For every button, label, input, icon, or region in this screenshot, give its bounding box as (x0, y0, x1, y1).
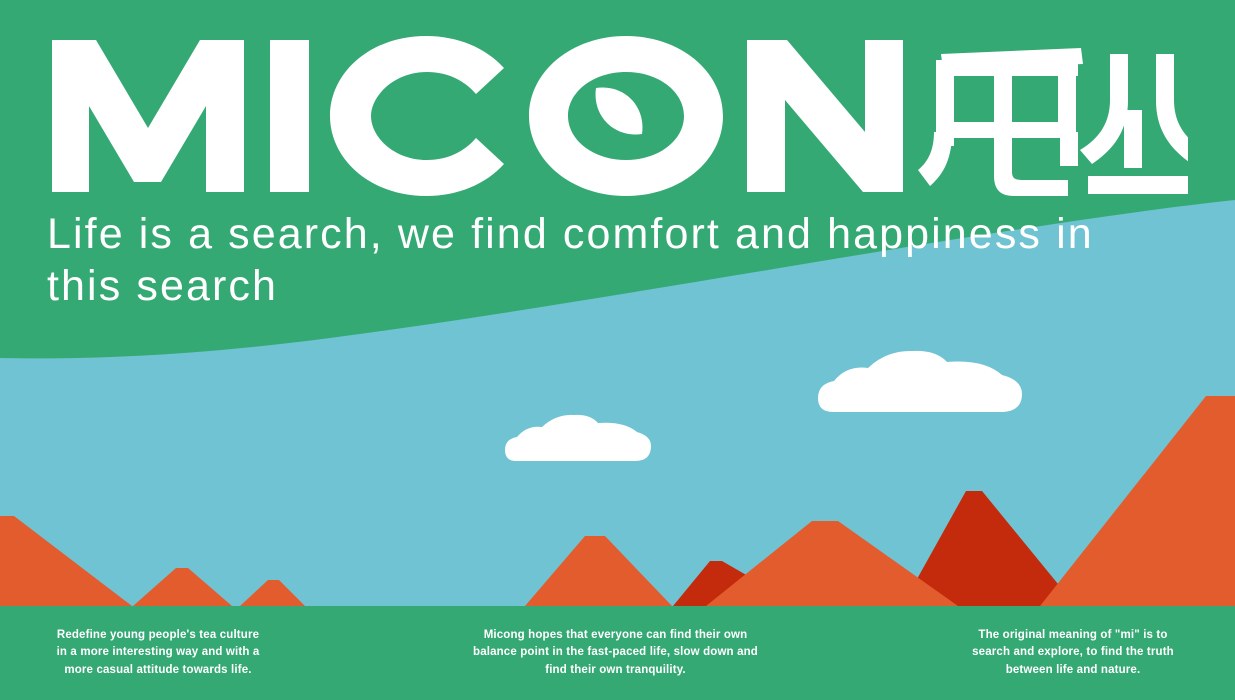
scene-illustration (0, 0, 1235, 700)
poster-canvas: Life is a search, we find comfort and ha… (0, 0, 1235, 700)
caption-tea-culture: Redefine young people's tea culture in a… (8, 627, 308, 679)
caption-meaning-of-mi: The original meaning of "mi" is to searc… (923, 627, 1223, 679)
footer-captions: Redefine young people's tea culture in a… (0, 606, 1235, 700)
caption-balance-point: Micong hopes that everyone can find thei… (308, 627, 923, 679)
